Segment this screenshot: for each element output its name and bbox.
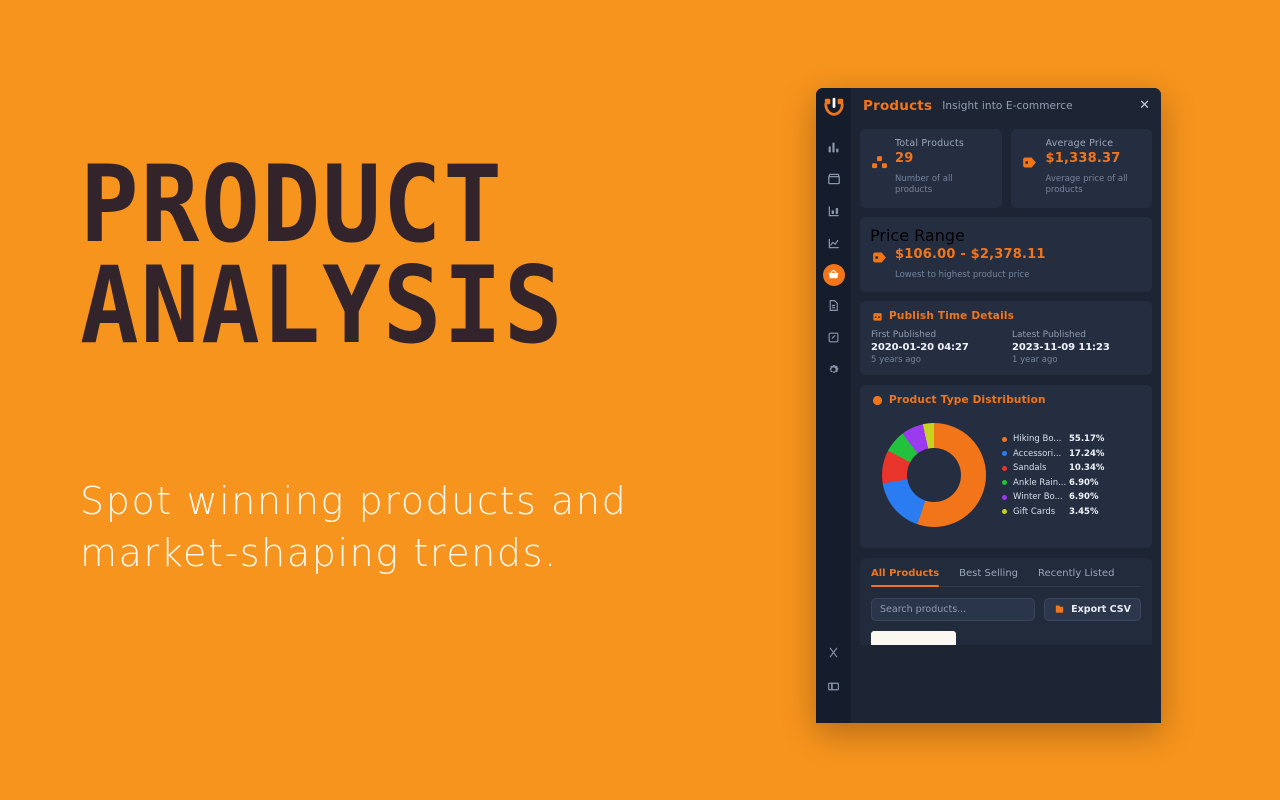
tab-all-products[interactable]: All Products <box>871 568 939 586</box>
legend-label: Winter Bo... <box>1013 492 1069 502</box>
stat-value: $1,338.37 <box>1046 151 1121 166</box>
close-icon[interactable]: ✕ <box>1139 99 1150 112</box>
dashboard-bars-icon <box>827 139 840 158</box>
first-published-block: First Published 2020-01-20 04:27 5 years… <box>871 330 1000 365</box>
field-value: 2023-11-09 11:23 <box>1012 342 1141 353</box>
legend-item: Gift Cards 3.45% <box>1002 507 1141 517</box>
sidebar-item-store[interactable] <box>822 168 846 192</box>
scissors-icon <box>827 644 840 663</box>
legend-value: 3.45% <box>1069 507 1099 517</box>
gear-icon <box>827 361 840 380</box>
app-titlebar: Products Insight into E-commerce ✕ <box>851 88 1161 123</box>
products-basket-icon <box>827 266 840 285</box>
legend-value: 6.90% <box>1069 478 1099 488</box>
export-icon <box>1054 600 1065 619</box>
price-tag-icon <box>870 249 888 267</box>
button-label: Export CSV <box>1071 604 1131 615</box>
legend-color-swatch <box>1002 509 1007 514</box>
panel-layout-icon <box>827 678 840 697</box>
note-edit-icon <box>827 329 840 348</box>
sidebar-item-dashboard[interactable] <box>822 136 846 160</box>
relative-time: 1 year ago <box>1012 355 1141 365</box>
legend-label: Gift Cards <box>1013 507 1069 517</box>
publish-time-card: Publish Time Details First Published 202… <box>860 301 1152 375</box>
product-tabs: All Products Best Selling Recently Liste… <box>871 568 1141 587</box>
sidebar-item-settings[interactable] <box>822 358 846 382</box>
trending-line-icon <box>827 235 841 254</box>
stat-hint: Number of all products <box>895 174 992 197</box>
legend-value: 10.34% <box>1069 463 1104 473</box>
product-type-distribution-card: Product Type Distribution Hiking Bo... 5… <box>860 385 1152 548</box>
page-title-line-2: Analysis <box>80 256 706 357</box>
card-title: Publish Time Details <box>889 310 1014 322</box>
search-input[interactable] <box>871 598 1035 621</box>
price-tag-icon <box>1021 153 1039 171</box>
legend-value: 6.90% <box>1069 492 1099 502</box>
distribution-heading: Product Type Distribution <box>871 394 1141 406</box>
tab-recently-listed[interactable]: Recently Listed <box>1038 568 1114 586</box>
legend-label: Hiking Bo... <box>1013 434 1069 444</box>
stat-hint: Average price of all products <box>1046 174 1143 197</box>
field-value: 2020-01-20 04:27 <box>871 342 1000 353</box>
legend-label: Accessori... <box>1013 449 1069 459</box>
donut-chart <box>871 414 996 536</box>
legend-color-swatch <box>1002 466 1007 471</box>
bar-chart-icon <box>827 203 841 222</box>
stat-value: 29 <box>895 151 914 166</box>
stats-row: Total Products 29 Number of all products <box>860 129 1152 208</box>
app-content: Total Products 29 Number of all products <box>851 123 1161 723</box>
sidebar-item-notes[interactable] <box>822 326 846 350</box>
card-title: Product Type Distribution <box>889 394 1046 406</box>
store-icon <box>827 171 841 190</box>
field-label: Latest Published <box>1012 330 1141 340</box>
legend-value: 55.17% <box>1069 434 1104 444</box>
legend-item: Hiking Bo... 55.17% <box>1002 434 1141 444</box>
legend-value: 17.24% <box>1069 449 1104 459</box>
stat-card-price-range: Price Range $106.00 - $2,378.11 Lowest t… <box>860 217 1152 292</box>
legend-item: Ankle Rain... 6.90% <box>1002 478 1141 488</box>
boxes-icon <box>870 153 888 171</box>
legend-label: Sandals <box>1013 463 1069 473</box>
window-title: Products <box>863 98 932 114</box>
sidebar-item-products[interactable] <box>823 264 845 286</box>
sidebar-item-trends[interactable] <box>822 232 846 256</box>
products-list-card: All Products Best Selling Recently Liste… <box>860 558 1152 645</box>
stat-label: Average Price <box>1046 138 1143 149</box>
stat-hint: Lowest to highest product price <box>895 270 1142 281</box>
latest-published-block: Latest Published 2023-11-09 11:23 1 year… <box>1012 330 1141 365</box>
sidebar-item-layout[interactable] <box>822 675 846 699</box>
promo-subtitle: Spot winning products and market-shaping… <box>80 475 740 580</box>
legend-color-swatch <box>1002 480 1007 485</box>
legend-color-swatch <box>1002 495 1007 500</box>
app-main: Products Insight into E-commerce ✕ Total… <box>851 88 1161 723</box>
donut-chart-area: Hiking Bo... 55.17% Accessori... 17.24% … <box>871 414 1141 536</box>
products-app-window: Products Insight into E-commerce ✕ Total… <box>816 88 1161 723</box>
legend-item: Winter Bo... 6.90% <box>1002 492 1141 502</box>
relative-time: 5 years ago <box>871 355 1000 365</box>
products-table-header-stub <box>871 631 956 645</box>
document-icon <box>827 297 840 316</box>
list-toolbar: Export CSV <box>871 598 1141 621</box>
app-logo-icon[interactable] <box>822 95 845 118</box>
sidebar-bottom-group <box>816 641 851 709</box>
stat-card-average-price: Average Price $1,338.37 Average price of… <box>1011 129 1153 208</box>
sidebar-item-reports[interactable] <box>822 200 846 224</box>
legend-color-swatch <box>1002 437 1007 442</box>
legend-item: Sandals 10.34% <box>1002 463 1141 473</box>
publish-time-heading: Publish Time Details <box>871 310 1141 322</box>
window-subtitle: Insight into E-commerce <box>942 100 1073 112</box>
stat-label: Total Products <box>895 138 992 149</box>
sidebar-item-tools[interactable] <box>822 641 846 665</box>
legend-label: Ankle Rain... <box>1013 478 1069 488</box>
stat-card-total-products: Total Products 29 Number of all products <box>860 129 1002 208</box>
donut-ring <box>882 423 986 527</box>
calendar-icon <box>871 310 883 322</box>
sidebar-item-documents[interactable] <box>822 294 846 318</box>
legend-item: Accessori... 17.24% <box>1002 449 1141 459</box>
export-csv-button[interactable]: Export CSV <box>1044 598 1141 621</box>
tab-best-selling[interactable]: Best Selling <box>959 568 1018 586</box>
promo-block: Product Analysis Spot winning products a… <box>80 155 760 356</box>
page-title: Product Analysis <box>80 155 706 356</box>
app-sidebar <box>816 88 851 723</box>
legend-color-swatch <box>1002 451 1007 456</box>
pie-chart-icon <box>871 394 883 406</box>
stat-label: Price Range <box>870 226 1142 245</box>
stat-value: $106.00 - $2,378.11 <box>895 247 1046 262</box>
donut-legend: Hiking Bo... 55.17% Accessori... 17.24% … <box>996 434 1141 517</box>
field-label: First Published <box>871 330 1000 340</box>
